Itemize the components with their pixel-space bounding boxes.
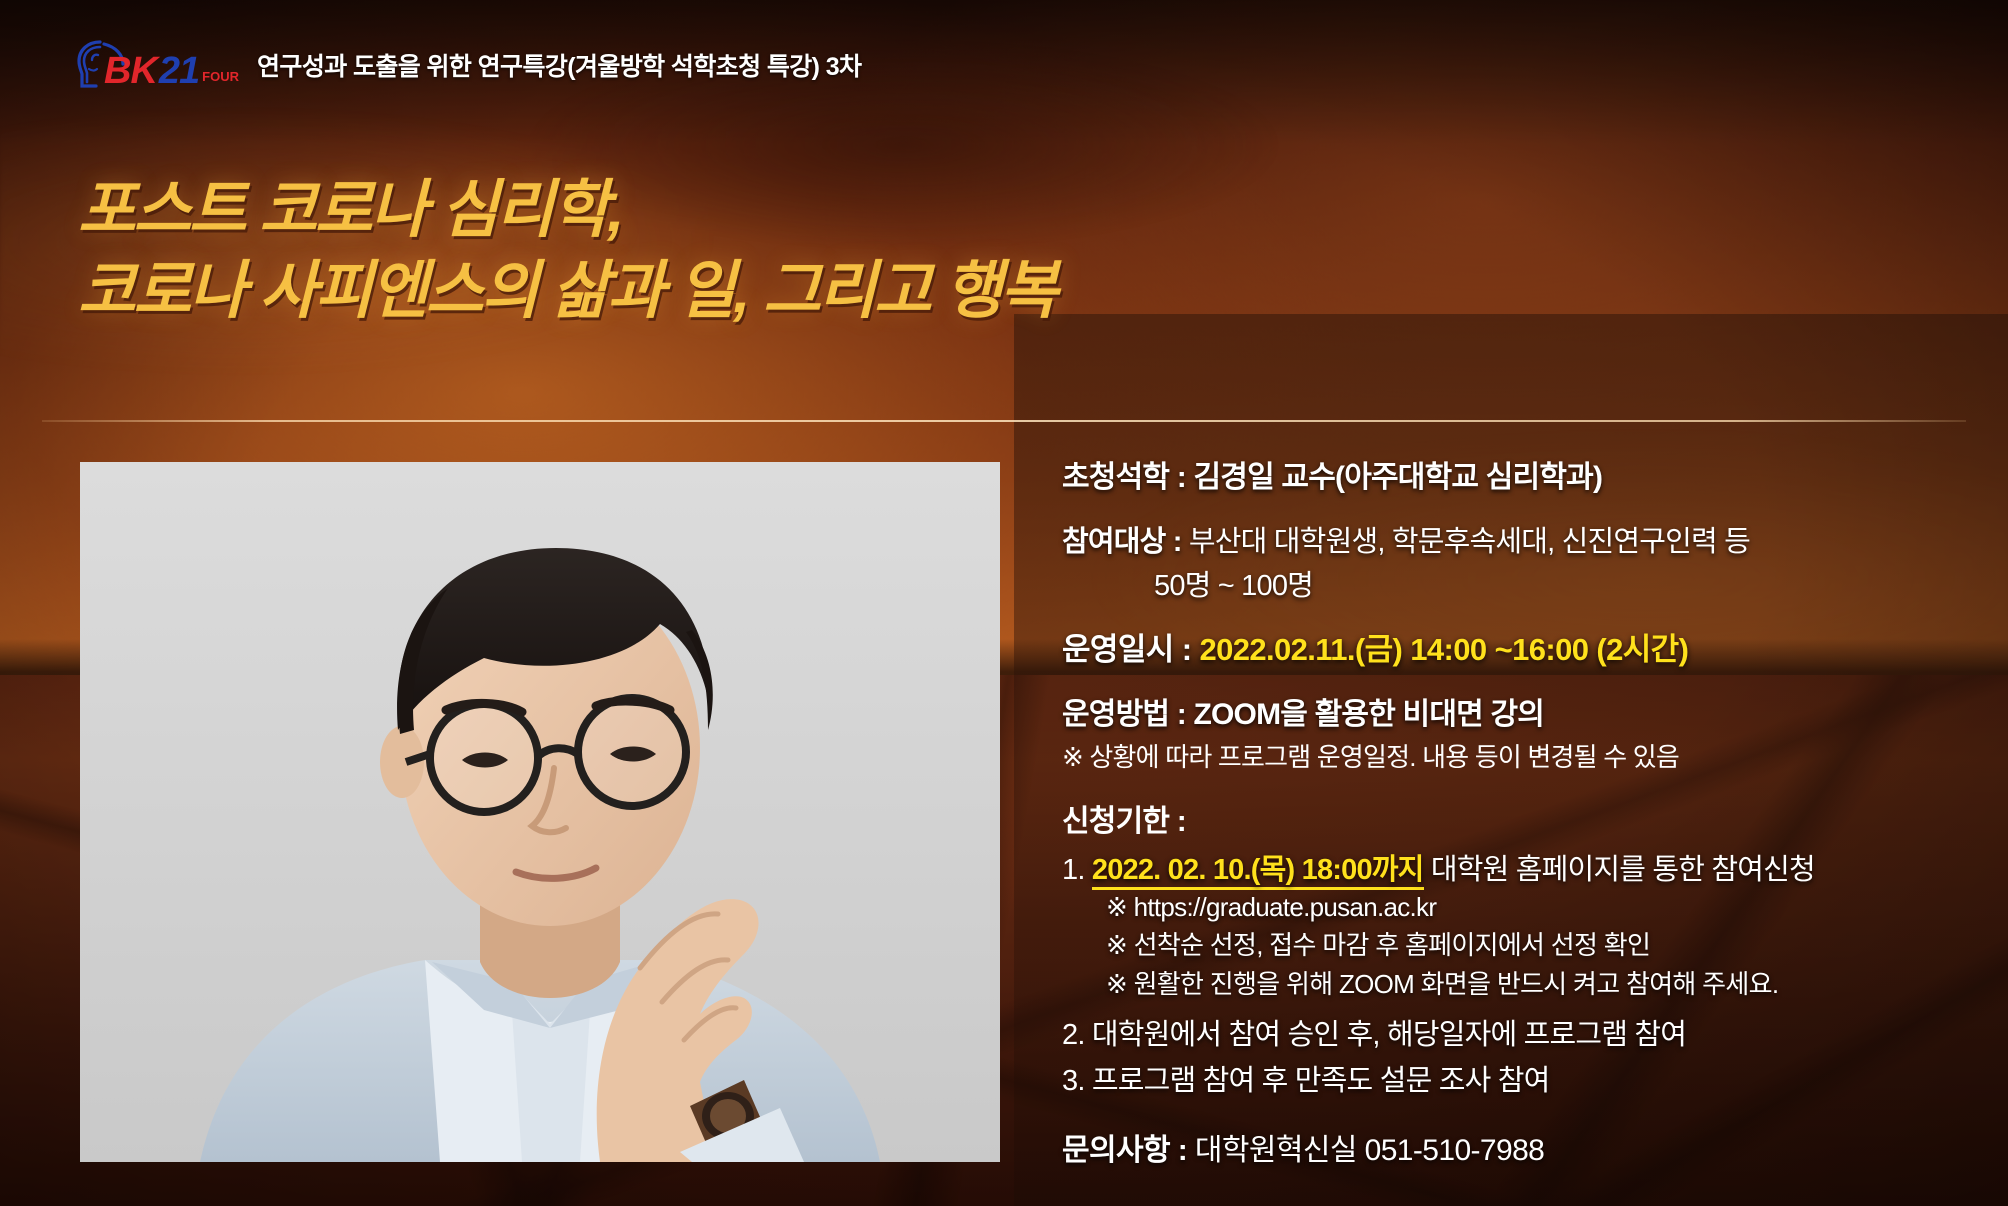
method-label: 운영방법 : — [1062, 698, 1186, 731]
logo-bk-text: BK — [104, 52, 157, 90]
method-value: ZOOM을 활용한 비대면 강의 — [1193, 698, 1544, 731]
speaker-value: 김경일 교수(아주대학교 심리학과) — [1193, 461, 1602, 494]
step-1-note-selection: ※ 선착순 선정, 접수 마감 후 홈페이지에서 선정 확인 — [1106, 925, 1962, 962]
header-divider — [42, 420, 1966, 422]
detail-method: 운영방법 : ZOOM을 활용한 비대면 강의 — [1062, 689, 1962, 733]
poster-root: BK 21 FOUR 연구성과 도출을 위한 연구특강(겨울방학 석학초청 특강… — [0, 0, 2008, 1206]
step-1-text: 대학원 홈페이지를 통한 참여신청 — [1431, 854, 1815, 886]
step-2-text: 대학원에서 참여 승인 후, 해당일자에 프로그램 참여 — [1092, 1019, 1686, 1051]
contact-value: 대학원혁신실 051-510-7988 — [1195, 1134, 1544, 1167]
contact-label: 문의사항 : — [1062, 1134, 1187, 1167]
speaker-photo — [80, 462, 1000, 1162]
header-subtitle: 연구성과 도출을 위한 연구특강(겨울방학 석학초청 특강) 3차 — [257, 47, 861, 83]
target-value: 부산대 대학원생, 학문후속세대, 신진연구인력 등 — [1189, 526, 1750, 558]
deadline-step-2: 2. 대학원에서 참여 승인 후, 해당일자에 프로그램 참여 — [1062, 1011, 1962, 1053]
method-note: ※ 상황에 따라 프로그램 운영일정. 내용 등이 변경될 수 있음 — [1062, 737, 1962, 774]
deadline-step-1: 1. 2022. 02. 10.(목) 18:00까지 대학원 홈페이지를 통한… — [1062, 846, 1962, 888]
deadline-step-3: 3. 프로그램 참여 후 만족도 설문 조사 참여 — [1062, 1057, 1962, 1099]
step-1-note-url[interactable]: ※ https://graduate.pusan.ac.kr — [1106, 892, 1962, 923]
datetime-label: 운영일시 : — [1062, 632, 1191, 667]
detail-speaker: 초청석학 : 김경일 교수(아주대학교 심리학과) — [1062, 452, 1962, 496]
speaker-label: 초청석학 : — [1062, 461, 1186, 494]
detail-target: 참여대상 : 부산대 대학원생, 학문후속세대, 신진연구인력 등 — [1062, 518, 1962, 560]
logo-four-text: FOUR — [202, 70, 239, 83]
step-1-highlight-date: 2022. 02. 10.(목) 18:00까지 — [1092, 854, 1424, 890]
bk21-four-logo: BK 21 FOUR — [70, 38, 239, 92]
target-capacity-value: 50명 ~ 100명 — [1154, 570, 1313, 602]
step-3-text: 프로그램 참여 후 만족도 설문 조사 참여 — [1092, 1065, 1550, 1097]
spacer — [1062, 1003, 1962, 1011]
deadline-label: 신청기한 : — [1062, 796, 1962, 840]
detail-contact: 문의사항 : 대학원혁신실 051-510-7988 — [1062, 1125, 1962, 1169]
poster-header: BK 21 FOUR 연구성과 도출을 위한 연구특강(겨울방학 석학초청 특강… — [70, 38, 861, 92]
detail-target-capacity: 50명 ~ 100명 — [1154, 562, 1962, 604]
target-label: 참여대상 : — [1062, 526, 1182, 558]
bk21-wordmark: BK 21 FOUR — [104, 52, 239, 92]
step-1-number: 1. — [1062, 854, 1085, 886]
step-2-number: 2. — [1062, 1019, 1085, 1051]
datetime-value: 2022.02.11.(금) 14:00 ~16:00 (2시간) — [1199, 632, 1688, 667]
title-line-2: 코로나 사피엔스의 삶과 일, 그리고 행복 — [78, 251, 1055, 332]
logo-21-text: 21 — [159, 52, 199, 90]
poster-title: 포스트 코로나 심리학, 코로나 사피엔스의 삶과 일, 그리고 행복 — [78, 170, 1055, 331]
step-1-note-zoom: ※ 원활한 진행을 위해 ZOOM 화면을 반드시 켜고 참여해 주세요. — [1106, 964, 1962, 1001]
event-details: 초청석학 : 김경일 교수(아주대학교 심리학과) 참여대상 : 부산대 대학원… — [1062, 452, 1962, 1169]
step-3-number: 3. — [1062, 1065, 1085, 1097]
detail-datetime: 운영일시 : 2022.02.11.(금) 14:00 ~16:00 (2시간) — [1062, 624, 1962, 669]
title-line-1: 포스트 코로나 심리학, — [78, 170, 1055, 251]
